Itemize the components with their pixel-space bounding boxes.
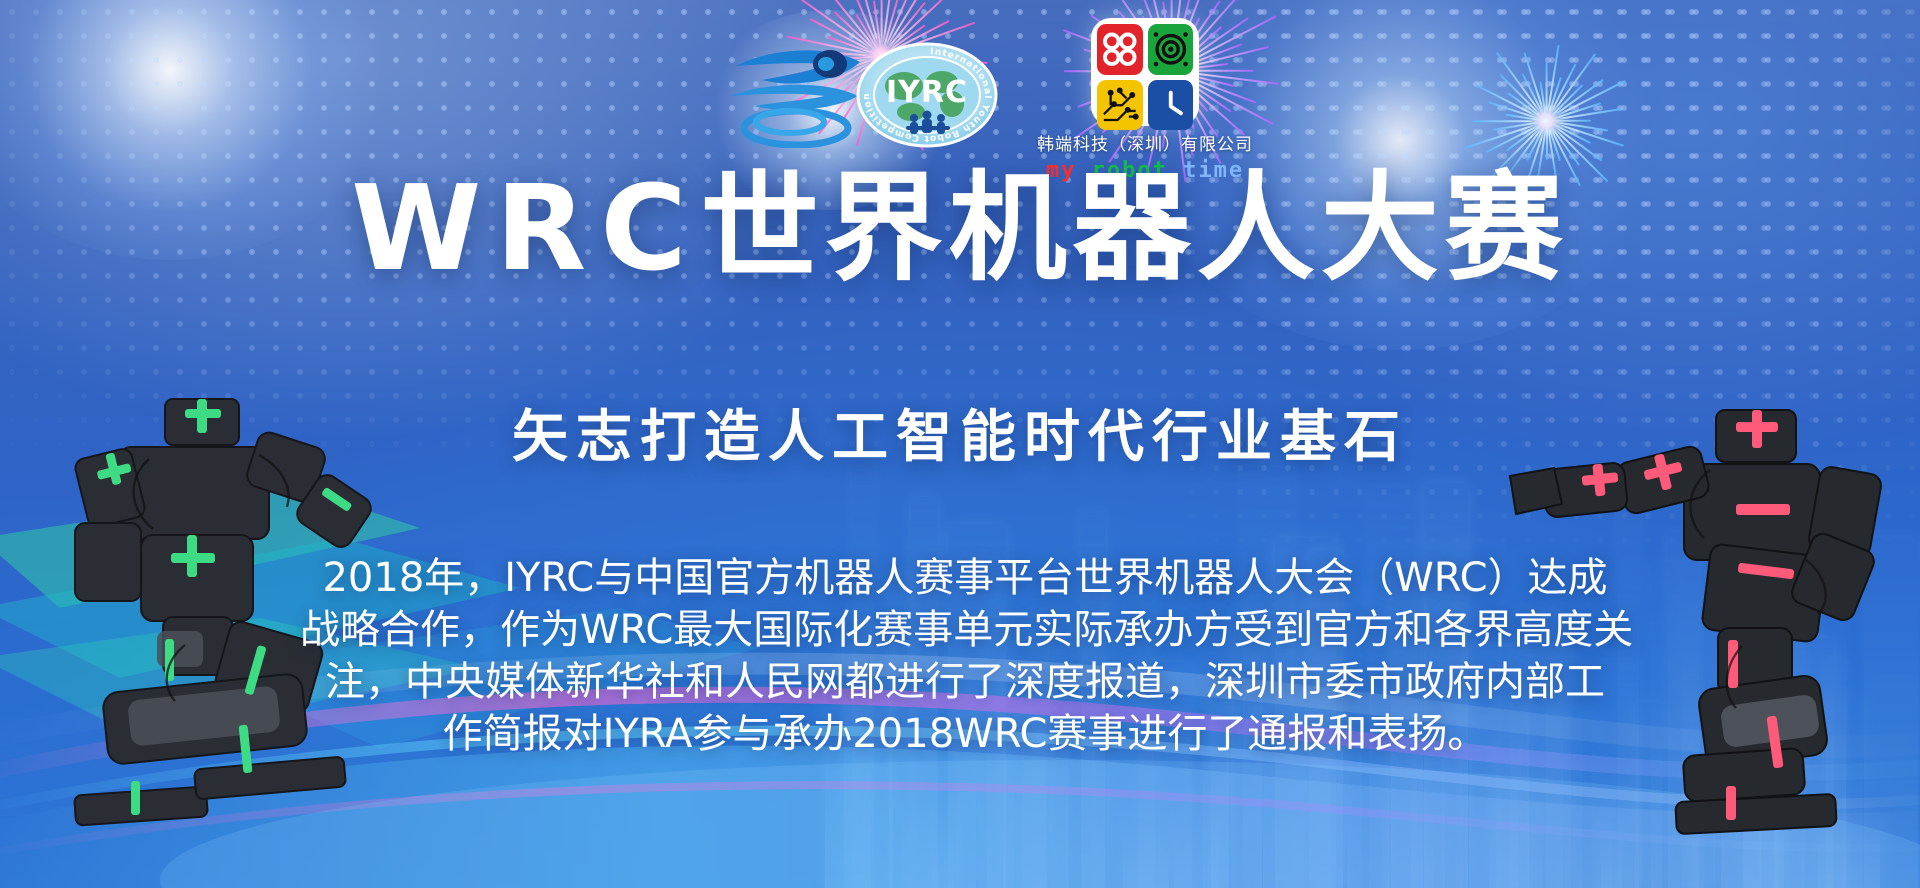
logo-row: International Youth Robot Competition IY… — [0, 0, 1920, 170]
page-subtitle: 矢志打造人工智能时代行业基石 — [0, 392, 1920, 473]
description-paragraph: 2018年，IYRC与中国官方机器人赛事平台世界机器人大会（WRC）达成 战略合… — [300, 552, 1630, 760]
svg-text:IYRC: IYRC — [886, 75, 968, 110]
gear-target-tile-icon — [1148, 24, 1194, 75]
circuit-tile-icon — [1097, 80, 1143, 131]
paragraph-line-2: 战略合作，作为WRC最大国际化赛事单元实际承办方受到官方和各界高度关 — [300, 604, 1630, 656]
paragraph-line-1: 2018年，IYRC与中国官方机器人赛事平台世界机器人大会（WRC）达成 — [300, 552, 1630, 604]
title-chinese: 世界机器人大赛 — [701, 159, 1569, 297]
wrc-wave-logo-icon — [718, 38, 878, 148]
paragraph-line-3: 注，中央媒体新华社和人民网都进行了深度报道，深圳市委市政府内部工 — [300, 656, 1630, 708]
mrt-logo-block: 韩端科技（深圳）有限公司 my robot time — [1030, 18, 1260, 168]
mrt-tile-grid — [1091, 18, 1199, 126]
iyrc-logo-badge: International Youth Robot Competition IY… — [856, 42, 998, 148]
mrt-company-name: 韩端科技（深圳）有限公司 — [1030, 130, 1260, 155]
four-dots-tile-icon — [1097, 24, 1143, 75]
title-latin: WRC — [351, 159, 701, 297]
wrc-promo-banner: International Youth Robot Competition IY… — [0, 0, 1920, 888]
clock-tile-icon — [1148, 80, 1194, 131]
page-title: WRC世界机器人大赛 — [0, 166, 1920, 291]
paragraph-line-4: 作简报对IYRA参与承办2018WRC赛事进行了通报和表扬。 — [300, 708, 1630, 760]
